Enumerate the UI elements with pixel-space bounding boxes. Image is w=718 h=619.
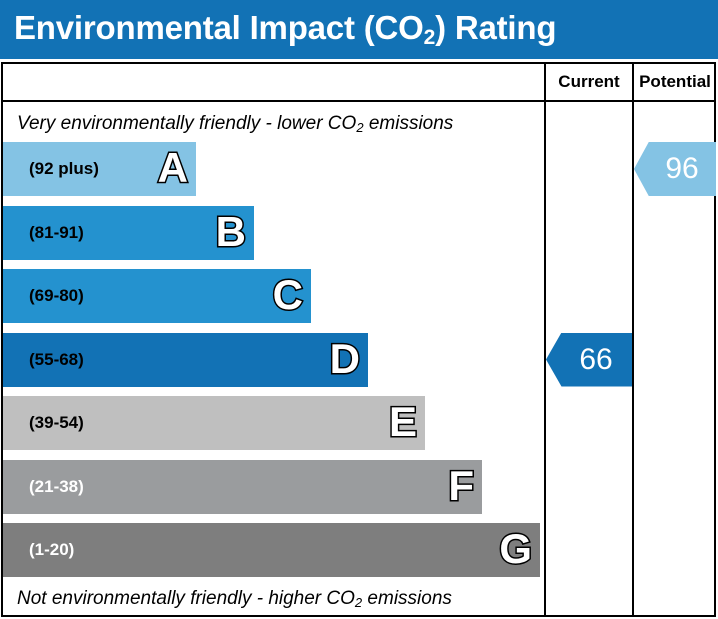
note-bottom: Not environmentally friendly - higher CO…	[17, 588, 452, 610]
rating-table: Current Potential Very environmentally f…	[1, 62, 716, 617]
band-range-g: (1-20)	[29, 523, 74, 577]
band-range-f: (21-38)	[29, 460, 84, 514]
page-title: Environmental Impact (CO2) Rating	[14, 9, 556, 47]
page-title-main: Environmental Impact (CO	[14, 9, 424, 46]
band-range-b: (81-91)	[29, 206, 84, 260]
epc-environmental-impact-chart: Environmental Impact (CO2) Rating Curren…	[0, 0, 718, 619]
bands-region: Very environmentally friendly - lower CO…	[3, 102, 542, 617]
note-bottom-subscript: 2	[355, 595, 362, 610]
note-bottom-suffix: emissions	[362, 588, 452, 609]
note-top: Very environmentally friendly - lower CO…	[17, 113, 453, 135]
band-letter-e: E	[389, 396, 417, 450]
band-letter-a: A	[158, 142, 188, 196]
band-g: (1-20)G	[3, 523, 540, 577]
band-c: (69-80)C	[3, 269, 311, 323]
page-title-subscript: 2	[424, 26, 435, 49]
band-letter-b: B	[216, 206, 246, 260]
band-a: (92 plus)A	[3, 142, 196, 196]
chart-header-banner: Environmental Impact (CO2) Rating	[0, 0, 718, 59]
band-letter-g: G	[499, 523, 532, 577]
current-rating-arrow: 66	[546, 333, 632, 387]
band-d: (55-68)D	[3, 333, 368, 387]
page-title-suffix: ) Rating	[435, 9, 556, 46]
band-f: (21-38)F	[3, 460, 482, 514]
note-top-text: Very environmentally friendly - lower CO	[17, 113, 356, 134]
column-header-current: Current	[546, 64, 632, 100]
column-header-potential: Potential	[634, 64, 716, 100]
note-bottom-text: Not environmentally friendly - higher CO	[17, 588, 355, 609]
band-range-e: (39-54)	[29, 396, 84, 450]
band-letter-f: F	[448, 460, 474, 514]
potential-rating-arrow: 96	[634, 142, 716, 196]
band-letter-d: D	[330, 333, 360, 387]
band-b: (81-91)B	[3, 206, 254, 260]
band-letter-c: C	[273, 269, 303, 323]
band-range-c: (69-80)	[29, 269, 84, 323]
band-range-d: (55-68)	[29, 333, 84, 387]
note-top-suffix: emissions	[364, 113, 454, 134]
band-e: (39-54)E	[3, 396, 425, 450]
band-range-a: (92 plus)	[29, 142, 99, 196]
note-top-subscript: 2	[356, 120, 363, 135]
column-divider-potential	[632, 64, 634, 615]
column-divider-current	[544, 64, 546, 615]
